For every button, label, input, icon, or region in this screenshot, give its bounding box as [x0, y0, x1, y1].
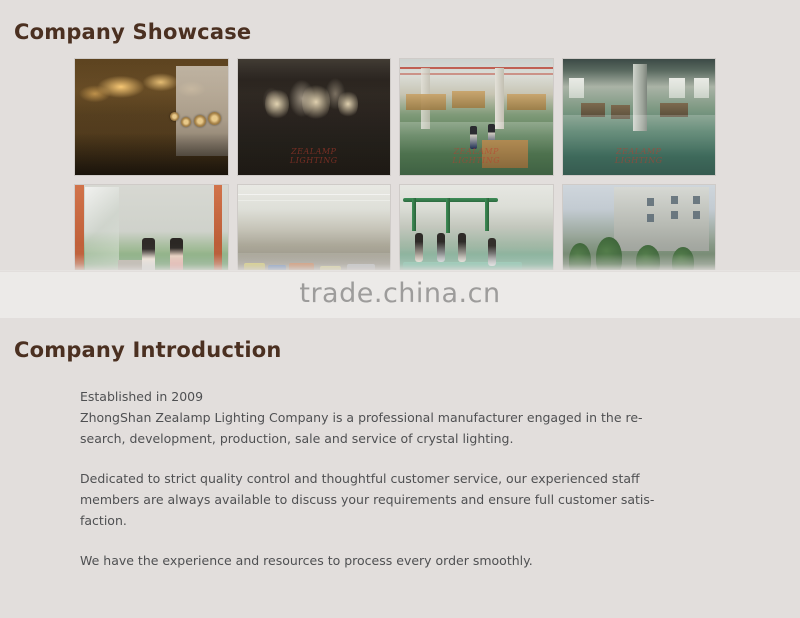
company-profile-page: Company Showcase	[0, 0, 800, 618]
intro-line: We have the experience and resources to …	[80, 550, 720, 571]
intro-paragraph: We have the experience and resources to …	[80, 550, 720, 571]
intro-paragraph: Established in 2009 ZhongShan Zealamp Li…	[80, 386, 720, 449]
intro-line: Dedicated to strict quality control and …	[80, 468, 720, 489]
showcase-photo-lighting-display-hall[interactable]: ZEALAMPLIGHTING	[237, 58, 392, 176]
photo-scene	[400, 59, 553, 175]
introduction-body: Established in 2009 ZhongShan Zealamp Li…	[80, 386, 720, 571]
showcase-photo-grid: ZEALAMPLIGHTING	[74, 58, 716, 270]
intro-line: ZhongShan Zealamp Lighting Company is a …	[80, 407, 720, 428]
photo-scene	[563, 59, 716, 175]
intro-paragraph: Dedicated to strict quality control and …	[80, 468, 720, 531]
showcase-photo-chandelier-showroom[interactable]	[74, 58, 229, 176]
site-watermark: trade.china.cn	[0, 278, 800, 309]
photo-row-top: ZEALAMPLIGHTING	[74, 58, 716, 176]
intro-line: faction.	[80, 510, 720, 531]
photo-scene	[238, 59, 391, 175]
showcase-photo-warehouse-packing-area[interactable]: ZEALAMPLIGHTING	[399, 58, 554, 176]
showcase-photo-warehouse-storage-hall[interactable]: ZEALAMPLIGHTING	[562, 58, 717, 176]
intro-line: Established in 2009	[80, 386, 720, 407]
intro-line: members are always available to discuss …	[80, 489, 720, 510]
intro-line: search, development, production, sale an…	[80, 428, 720, 449]
band-divider	[0, 270, 800, 271]
showcase-section-title: Company Showcase	[14, 20, 251, 44]
photo-scene	[75, 59, 228, 175]
introduction-section-title: Company Introduction	[14, 338, 282, 362]
